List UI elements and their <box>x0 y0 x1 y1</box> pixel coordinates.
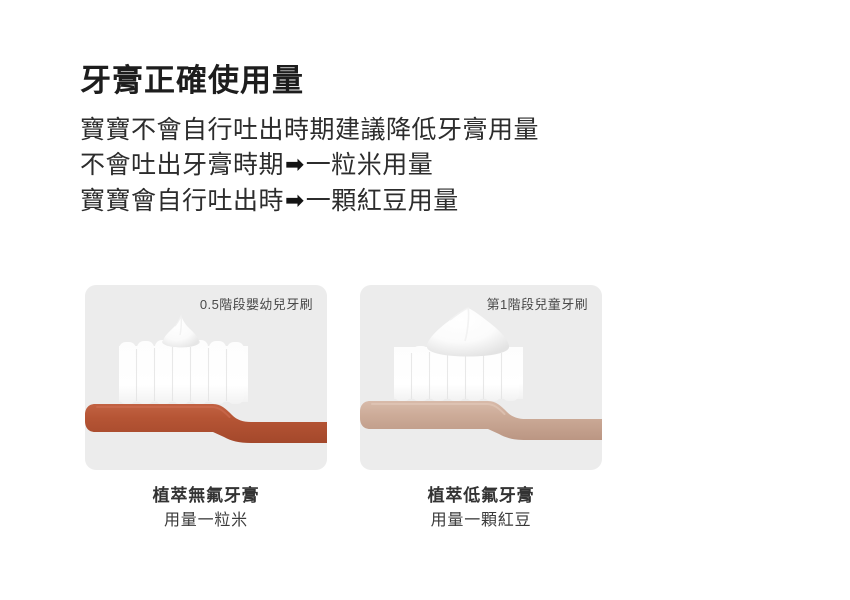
card-caption: 植萃無氟牙膏 用量一粒米 <box>85 485 327 532</box>
body-line-2: 不會吐出牙膏時期➡一粒米用量 <box>80 148 760 184</box>
arrow-right-icon: ➡ <box>284 188 306 214</box>
body-line-1-text: 寶寶不會自行吐出時期建議降低牙膏用量 <box>80 116 539 144</box>
brush-handle <box>85 404 327 443</box>
heading-block: 牙膏正確使用量 寶寶不會自行吐出時期建議降低牙膏用量 不會吐出牙膏時期➡一粒米用… <box>80 62 760 219</box>
page-title: 牙膏正確使用量 <box>80 62 760 101</box>
product-card-kids: 第1階段兒童牙刷 <box>360 285 602 532</box>
body-line-2-before: 不會吐出牙膏時期 <box>80 151 284 179</box>
toothpaste-blob-rice <box>162 316 200 347</box>
card-caption: 植萃低氟牙膏 用量一顆紅豆 <box>360 485 602 532</box>
toothpaste-blob-red-bean <box>427 308 509 357</box>
caption-product-name: 植萃低氟牙膏 <box>360 485 602 508</box>
body-line-3: 寶寶會自行吐出時➡一顆紅豆用量 <box>80 184 760 220</box>
body-line-1: 寶寶不會自行吐出時期建議降低牙膏用量 <box>80 113 760 149</box>
body-line-3-before: 寶寶會自行吐出時 <box>80 187 284 215</box>
product-card-infant: 0.5階段嬰幼兒牙刷 <box>85 285 327 532</box>
brush-handle <box>360 401 602 440</box>
brush-bristles <box>119 340 248 404</box>
infographic-page: 牙膏正確使用量 寶寶不會自行吐出時期建議降低牙膏用量 不會吐出牙膏時期➡一粒米用… <box>0 0 850 600</box>
toothbrush-icon <box>85 285 327 470</box>
product-cards-row: 0.5階段嬰幼兒牙刷 <box>85 285 765 535</box>
caption-dosage: 用量一粒米 <box>85 510 327 532</box>
toothbrush-icon <box>360 285 602 470</box>
body-line-2-after: 一粒米用量 <box>306 151 434 179</box>
body-line-3-after: 一顆紅豆用量 <box>306 187 459 215</box>
arrow-right-icon: ➡ <box>284 152 306 178</box>
caption-product-name: 植萃無氟牙膏 <box>85 485 327 508</box>
brush-illustration-card: 第1階段兒童牙刷 <box>360 285 602 470</box>
brush-illustration-card: 0.5階段嬰幼兒牙刷 <box>85 285 327 470</box>
caption-dosage: 用量一顆紅豆 <box>360 510 602 532</box>
